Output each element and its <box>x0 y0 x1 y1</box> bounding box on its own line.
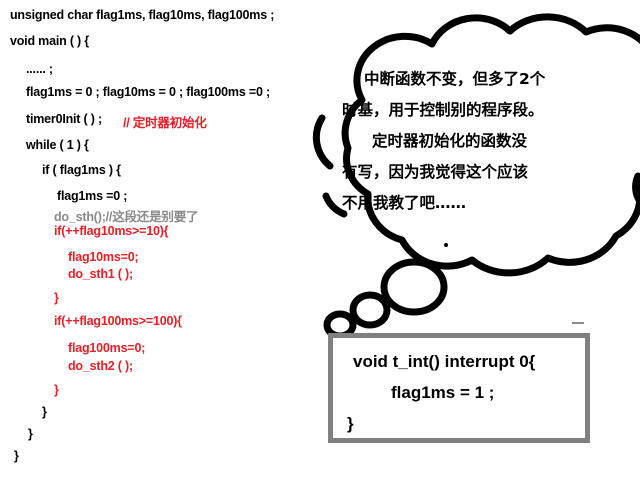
code-line: do_sth();//这段还是别要了 <box>54 206 198 225</box>
thought-tail-bubble-medium <box>353 295 387 325</box>
code-line: // 定时器初始化 <box>123 112 207 131</box>
bubble-text-line: 时基，用于控制别的程序段。 <box>342 95 628 126</box>
bubble-text-line: 有写，因为我觉得这个应该 <box>342 157 628 188</box>
code-line: if(++flag100ms>=100){ <box>54 314 182 328</box>
code-line: } <box>14 449 19 463</box>
code-line: if ( flag1ms ) { <box>42 163 121 177</box>
bubble-text-line: 不用我教了吧…… <box>342 188 628 219</box>
code-line: unsigned char flag1ms, flag10ms, flag100… <box>10 8 274 22</box>
interrupt-code-line: void t_int() interrupt 0{ <box>353 352 535 372</box>
code-line: flag1ms = 0 ; flag10ms = 0 ; flag100ms =… <box>26 85 270 99</box>
code-line: flag100ms=0; <box>68 341 145 355</box>
code-line: } <box>42 405 47 419</box>
code-line: if(++flag10ms>=10){ <box>54 224 168 238</box>
code-line: flag1ms =0 ; <box>57 189 127 203</box>
code-line: timer0Init ( ) ; <box>26 112 102 126</box>
interrupt-function-box: void t_int() interrupt 0{flag1ms = 1 ;} <box>328 333 590 443</box>
code-line: } <box>54 383 59 397</box>
code-line: void main ( ) { <box>10 34 89 48</box>
bubble-text-line: 定时器初始化的函数没 <box>342 126 628 157</box>
thought-bubble: 中断函数不变，但多了2个时基，用于控制别的程序段。定时器初始化的函数没有写，因为… <box>286 8 640 338</box>
code-line: } <box>28 427 33 441</box>
interrupt-code-line: flag1ms = 1 ; <box>391 383 494 403</box>
code-line: ...... ; <box>26 62 53 76</box>
stray-dot <box>444 243 448 247</box>
code-line: do_sth1 ( ); <box>68 267 133 281</box>
thought-bubble-text: 中断函数不变，但多了2个时基，用于控制别的程序段。定时器初始化的函数没有写，因为… <box>342 64 628 219</box>
code-line: } <box>54 291 59 305</box>
stray-dash-mark <box>572 322 584 324</box>
code-line: while ( 1 ) { <box>26 138 89 152</box>
interrupt-code-line: } <box>347 414 354 434</box>
code-line: flag10ms=0; <box>68 250 138 264</box>
thought-tail-bubble-large <box>384 262 444 312</box>
bubble-text-line: 中断函数不变，但多了2个 <box>342 64 628 95</box>
code-line: do_sth2 ( ); <box>68 359 133 373</box>
